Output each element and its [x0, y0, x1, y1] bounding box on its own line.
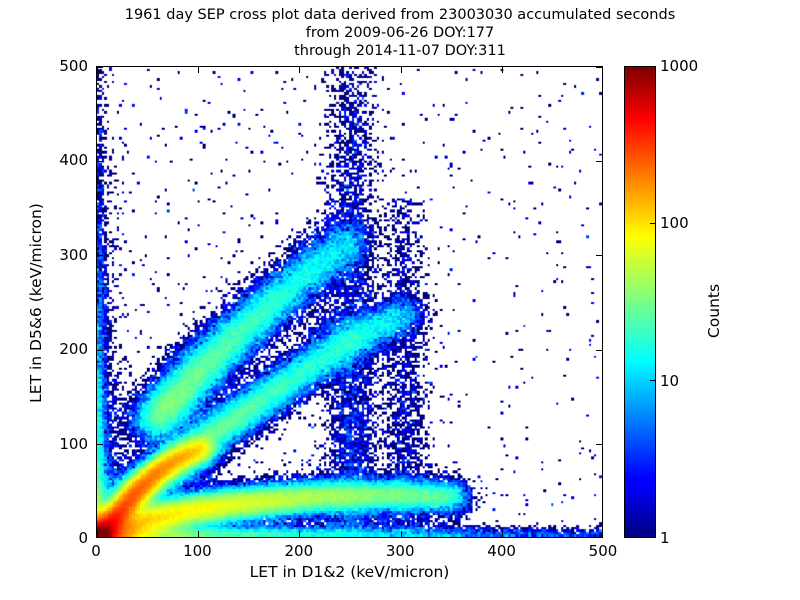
y-tick-200-right [596, 350, 602, 351]
colorbar-tick-label-10: 10 [660, 372, 679, 390]
y-axis-label: LET in D5&6 (keV/micron) [27, 133, 45, 473]
colorbar-tick-100 [650, 223, 656, 224]
colorbar-tick-10 [650, 380, 656, 381]
x-tick-label-400: 400 [487, 542, 516, 560]
colorbar-label: Counts [705, 216, 723, 406]
plot-axes [96, 66, 603, 538]
y-tick-200-left [97, 350, 103, 351]
y-tick-400-left [97, 161, 103, 162]
x-tick-label-500: 500 [589, 542, 618, 560]
x-tick-label-200: 200 [284, 542, 313, 560]
colorbar-tick-label-100: 100 [660, 214, 689, 232]
title-line-1: 1961 day SEP cross plot data derived fro… [0, 6, 800, 24]
x-tick-label-0: 0 [91, 542, 101, 560]
y-tick-400-right [596, 161, 602, 162]
x-tick-label-100: 100 [183, 542, 212, 560]
x-tick-100-top [198, 67, 199, 73]
y-tick-500-right [596, 67, 602, 68]
x-tick-400-top [502, 67, 503, 73]
y-tick-500-left [97, 67, 103, 68]
figure-canvas: 1961 day SEP cross plot data derived fro… [0, 0, 800, 600]
y-tick-300-right [596, 255, 602, 256]
x-tick-400-bottom [502, 531, 503, 537]
y-tick-label-0: 0 [0, 529, 88, 547]
colorbar-tick-label-1: 1 [660, 529, 670, 547]
x-axis-label: LET in D1&2 (keV/micron) [96, 563, 603, 581]
density-heatmap [97, 67, 602, 537]
y-tick-100-left [97, 444, 103, 445]
x-tick-200-top [299, 67, 300, 73]
x-tick-300-bottom [401, 531, 402, 537]
title-line-2: from 2009-06-26 DOY:177 [0, 24, 800, 42]
x-tick-100-bottom [198, 531, 199, 537]
y-tick-label-500: 500 [0, 57, 88, 75]
colorbar-tick-label-1000: 1000 [660, 57, 698, 75]
x-tick-0-bottom [97, 531, 98, 537]
plot-title: 1961 day SEP cross plot data derived fro… [0, 6, 800, 60]
y-tick-100-right [596, 444, 602, 445]
y-tick-300-left [97, 255, 103, 256]
x-tick-200-bottom [299, 531, 300, 537]
colorbar: 1101001000 [624, 66, 656, 538]
colorbar-gradient [624, 66, 656, 538]
x-tick-label-300: 300 [386, 542, 415, 560]
x-tick-300-top [401, 67, 402, 73]
